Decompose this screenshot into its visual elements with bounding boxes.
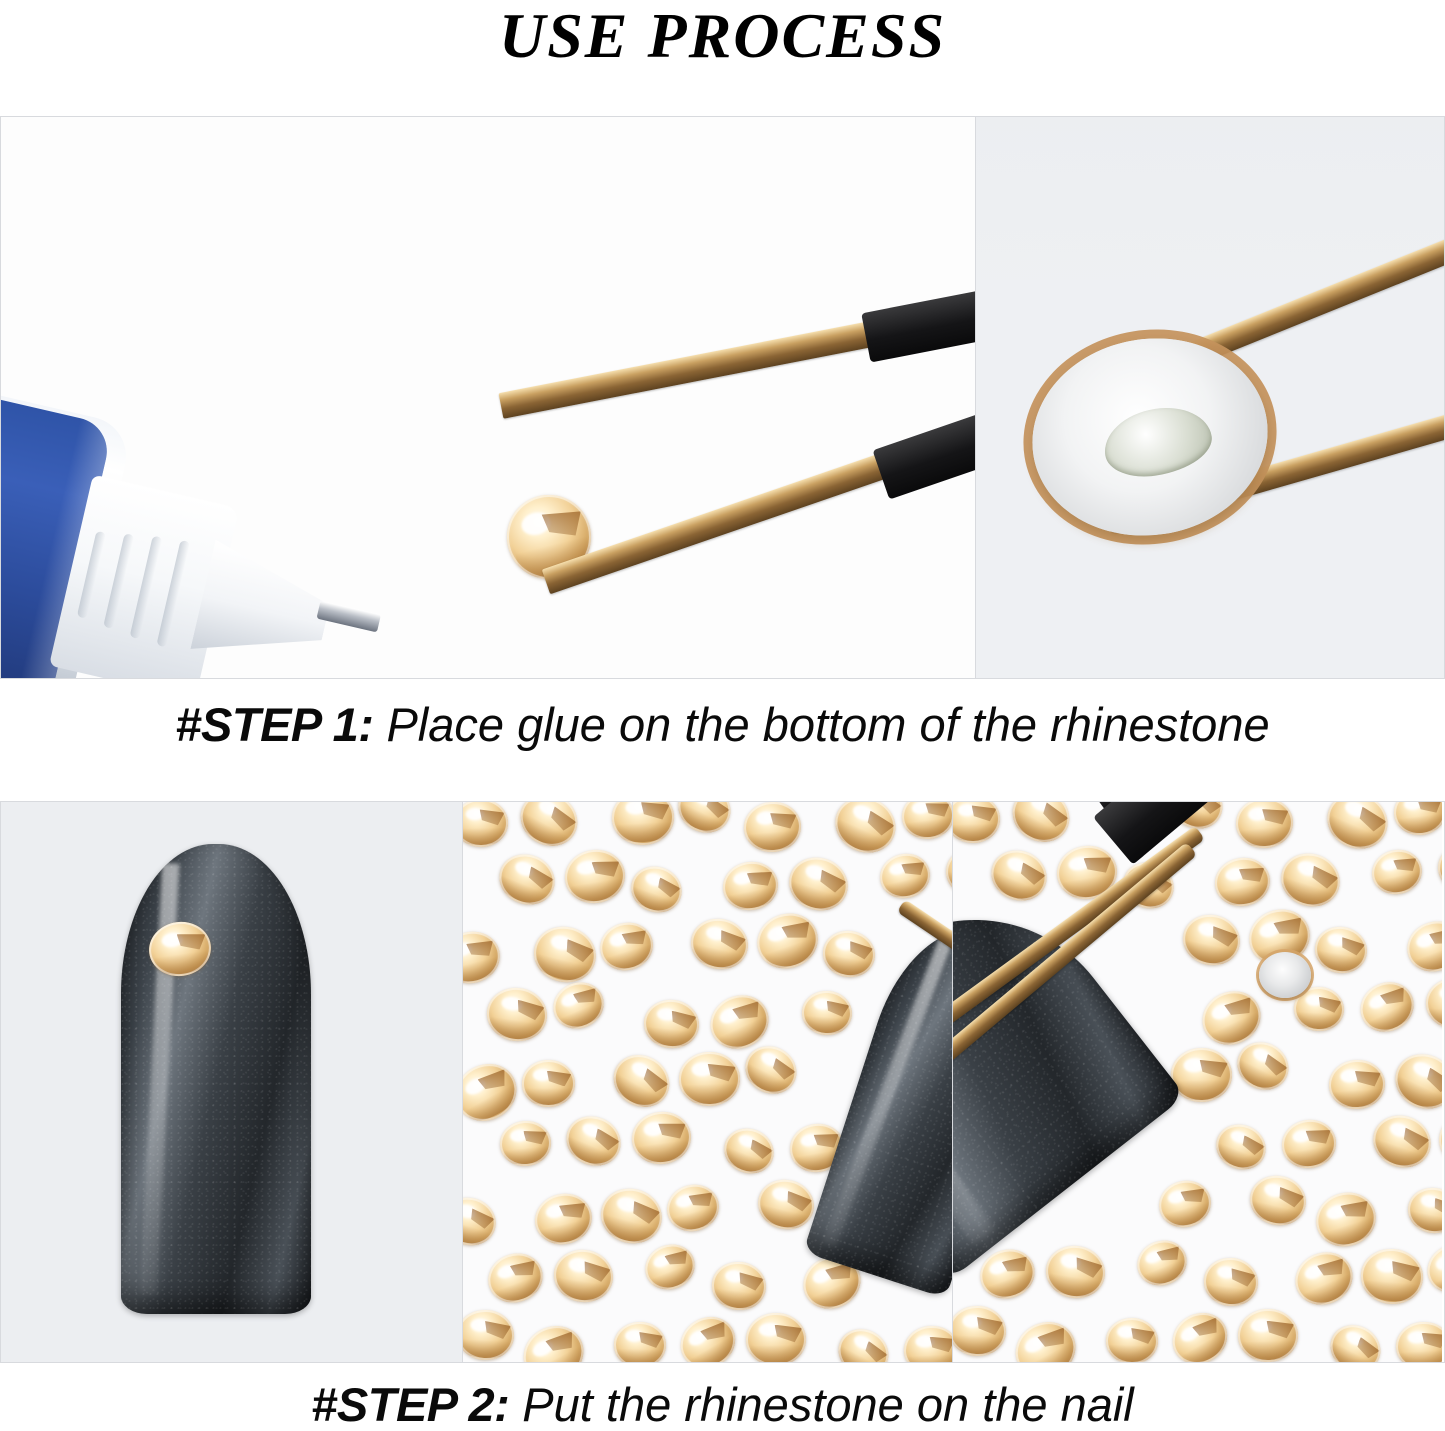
step-2-caption-rest: Put the rhinestone on the nail xyxy=(509,1378,1134,1431)
tweezers-lower-grip xyxy=(873,392,975,500)
rhinestone xyxy=(559,1108,629,1174)
rhinestone xyxy=(1278,1116,1339,1172)
rhinestone xyxy=(1210,854,1273,912)
rhinestone xyxy=(639,1237,702,1297)
applying-rhinestone-photo xyxy=(952,802,1442,1362)
rhinestone xyxy=(1319,802,1397,857)
section-spacer xyxy=(0,779,1445,801)
glue-drop xyxy=(1099,400,1217,483)
rhinestone xyxy=(594,916,658,976)
rhinestone xyxy=(483,984,550,1045)
rhinestone xyxy=(1327,1058,1386,1111)
rhinestone xyxy=(709,1259,768,1313)
rhinestone xyxy=(1425,977,1442,1030)
step-2-caption-lead: #STEP 2: xyxy=(311,1378,509,1431)
rhinestone xyxy=(672,1307,745,1362)
rhinestone xyxy=(512,802,587,856)
rhinestone xyxy=(1310,1185,1383,1254)
rhinestone xyxy=(1391,802,1442,838)
glue-bottle: O R xyxy=(1,376,373,678)
rhinestone xyxy=(498,1118,553,1168)
rhinestone xyxy=(899,802,952,842)
rhinestone xyxy=(753,1175,819,1236)
rhinestone xyxy=(604,1045,678,1117)
rhinestone xyxy=(1359,1246,1426,1306)
rhinestone xyxy=(1042,1241,1108,1301)
step-2-caption: #STEP 2: Put the rhinestone on the nail xyxy=(0,1363,1445,1427)
rhinestone xyxy=(800,989,853,1036)
rhinestone xyxy=(1322,1317,1388,1362)
step-1-caption-lead: #STEP 1: xyxy=(175,698,373,751)
rhinestone xyxy=(1368,845,1427,899)
rhinestone xyxy=(1245,1171,1311,1232)
rhinestone xyxy=(1201,1255,1260,1309)
rhinestone-with-glue-photo xyxy=(975,117,1444,678)
rhinestone xyxy=(610,802,675,846)
step-1-caption: #STEP 1: Place glue on the bottom of the… xyxy=(0,679,1445,779)
rhinestone xyxy=(718,858,781,916)
rhinestone xyxy=(595,1182,668,1250)
rhinestone xyxy=(462,1191,502,1251)
rhinestone-flat-back xyxy=(1018,322,1282,553)
rhinestone xyxy=(462,1309,515,1362)
glue-nozzle-tip xyxy=(316,601,380,632)
rhinestone xyxy=(738,1038,805,1102)
rhinestone xyxy=(614,1322,667,1362)
rhinestone xyxy=(1106,1318,1159,1362)
rhinestone xyxy=(1274,846,1346,914)
rhinestone xyxy=(481,1246,549,1310)
rhinestone xyxy=(522,1060,575,1107)
rhinestone xyxy=(1394,1320,1442,1362)
rhinestone xyxy=(1230,1034,1297,1098)
rhinestone xyxy=(546,975,610,1036)
rhinestone xyxy=(1234,802,1295,850)
rhinestone xyxy=(1131,1233,1194,1293)
step-1-block: O R xyxy=(0,116,1445,779)
rhinestone xyxy=(629,1108,695,1168)
rhinestone xyxy=(746,1313,807,1362)
rhinestone xyxy=(952,802,1001,843)
rhinestone xyxy=(1366,1108,1437,1175)
rhinestone xyxy=(1420,1235,1442,1300)
rhinestone xyxy=(1352,973,1422,1040)
step-2-block: #STEP 2: Put the rhinestone on the nail xyxy=(0,801,1445,1427)
rhinestone xyxy=(1238,1309,1299,1362)
rhinestone xyxy=(1004,802,1079,852)
rhinestone xyxy=(550,1245,616,1305)
rhinestone xyxy=(941,843,952,904)
rhinestone xyxy=(1006,1311,1085,1362)
rhinestone xyxy=(678,1051,741,1107)
rhinestone xyxy=(1312,922,1371,976)
rhinestone xyxy=(662,1178,725,1236)
rhinestone xyxy=(1164,1303,1237,1362)
rhinestone xyxy=(670,802,738,841)
rhinestone xyxy=(750,906,825,977)
rhinestone xyxy=(1179,909,1245,970)
rhinestone xyxy=(820,926,879,980)
tweezers-lower-arm xyxy=(542,400,975,594)
nail-tip xyxy=(121,844,311,1314)
rhinestone xyxy=(1434,1106,1442,1172)
rhinestone xyxy=(1287,1244,1361,1314)
rhinestone xyxy=(1433,839,1442,900)
rhinestone xyxy=(827,802,905,861)
glue-bottle-cone xyxy=(190,540,338,677)
rhinestone xyxy=(782,850,854,918)
step-1-caption-rest: Place glue on the bottom of the rhinesto… xyxy=(373,698,1269,751)
rhinestone xyxy=(1386,1045,1442,1118)
rhinestone xyxy=(1404,1184,1442,1238)
step-1-image-row: O R xyxy=(0,116,1445,679)
rhinestone xyxy=(1209,1117,1271,1176)
rhinestone xyxy=(625,859,688,919)
rhinestone xyxy=(528,921,601,989)
finished-nail-photo xyxy=(1,802,462,1362)
rhinestone xyxy=(1400,914,1442,980)
rhinestone xyxy=(1154,1174,1217,1232)
rhinestone xyxy=(462,925,506,989)
rhinestone xyxy=(952,1305,1007,1358)
rhinestone xyxy=(830,1321,896,1362)
step-2-image-row xyxy=(0,801,1445,1363)
rhinestone xyxy=(687,913,753,974)
scattered-rhinestones-photo xyxy=(462,802,952,1362)
tweezers-upper-grip xyxy=(861,279,975,362)
rhinestone xyxy=(642,997,702,1051)
rhinestone xyxy=(876,849,935,903)
rhinestone xyxy=(902,1324,952,1362)
glue-bottle-and-tweezers-photo: O R xyxy=(1,117,975,678)
rhinestone xyxy=(514,1315,593,1362)
rhinestone xyxy=(717,1121,779,1180)
rhinestone xyxy=(561,846,629,908)
rhinestone xyxy=(742,802,803,854)
rhinestone-flipped-foil-back xyxy=(1259,952,1311,998)
rhinestone xyxy=(529,1187,596,1249)
rhinestone xyxy=(492,846,562,913)
rhinestone xyxy=(462,1053,527,1131)
rhinestone xyxy=(462,802,509,847)
page-title: USE PROCESS xyxy=(0,0,1445,116)
